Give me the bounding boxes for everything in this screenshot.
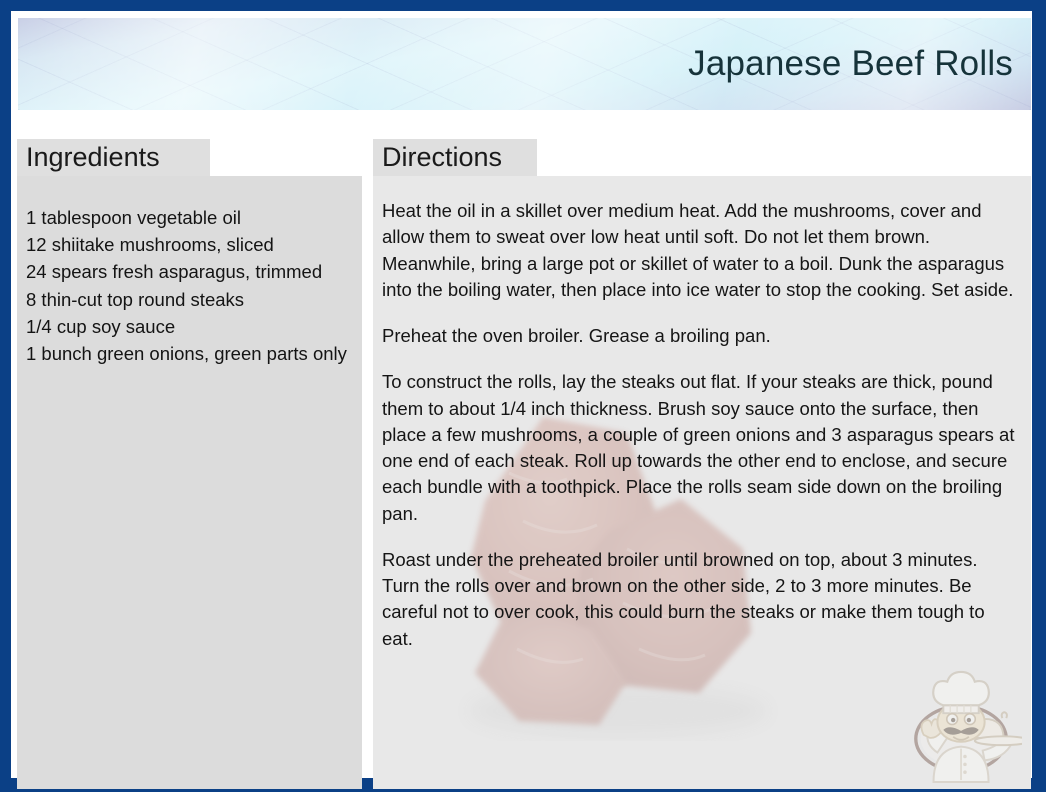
- chef-mascot-logo: [904, 665, 1022, 785]
- direction-paragraph: Roast under the preheated broiler until …: [382, 547, 1017, 652]
- directions-heading-tab: Directions: [373, 139, 537, 176]
- directions-panel: Heat the oil in a skillet over medium he…: [373, 176, 1031, 789]
- header-banner: Japanese Beef Rolls: [18, 18, 1031, 110]
- list-item: 1 tablespoon vegetable oil: [26, 204, 350, 231]
- recipe-page: Japanese Beef Rolls Ingredients 1 tables…: [11, 11, 1032, 778]
- list-item: 8 thin-cut top round steaks: [26, 286, 350, 313]
- direction-paragraph: To construct the rolls, lay the steaks o…: [382, 369, 1017, 527]
- direction-paragraph: Heat the oil in a skillet over medium he…: [382, 198, 1017, 303]
- ingredients-heading-label: Ingredients: [17, 144, 160, 171]
- ingredients-panel: 1 tablespoon vegetable oil 12 shiitake m…: [17, 176, 362, 789]
- ingredient-list: 1 tablespoon vegetable oil 12 shiitake m…: [26, 204, 350, 367]
- directions-heading-label: Directions: [373, 144, 502, 171]
- list-item: 12 shiitake mushrooms, sliced: [26, 231, 350, 258]
- recipe-card: Japanese Beef Rolls Ingredients 1 tables…: [0, 0, 1046, 792]
- direction-paragraph: Preheat the oven broiler. Grease a broil…: [382, 323, 1017, 349]
- list-item: 24 spears fresh asparagus, trimmed: [26, 258, 350, 285]
- list-item: 1 bunch green onions, green parts only: [26, 340, 350, 367]
- list-item: 1/4 cup soy sauce: [26, 313, 350, 340]
- ingredients-heading-tab: Ingredients: [17, 139, 210, 176]
- page-title: Japanese Beef Rolls: [688, 44, 1013, 84]
- directions-body: Heat the oil in a skillet over medium he…: [382, 198, 1017, 652]
